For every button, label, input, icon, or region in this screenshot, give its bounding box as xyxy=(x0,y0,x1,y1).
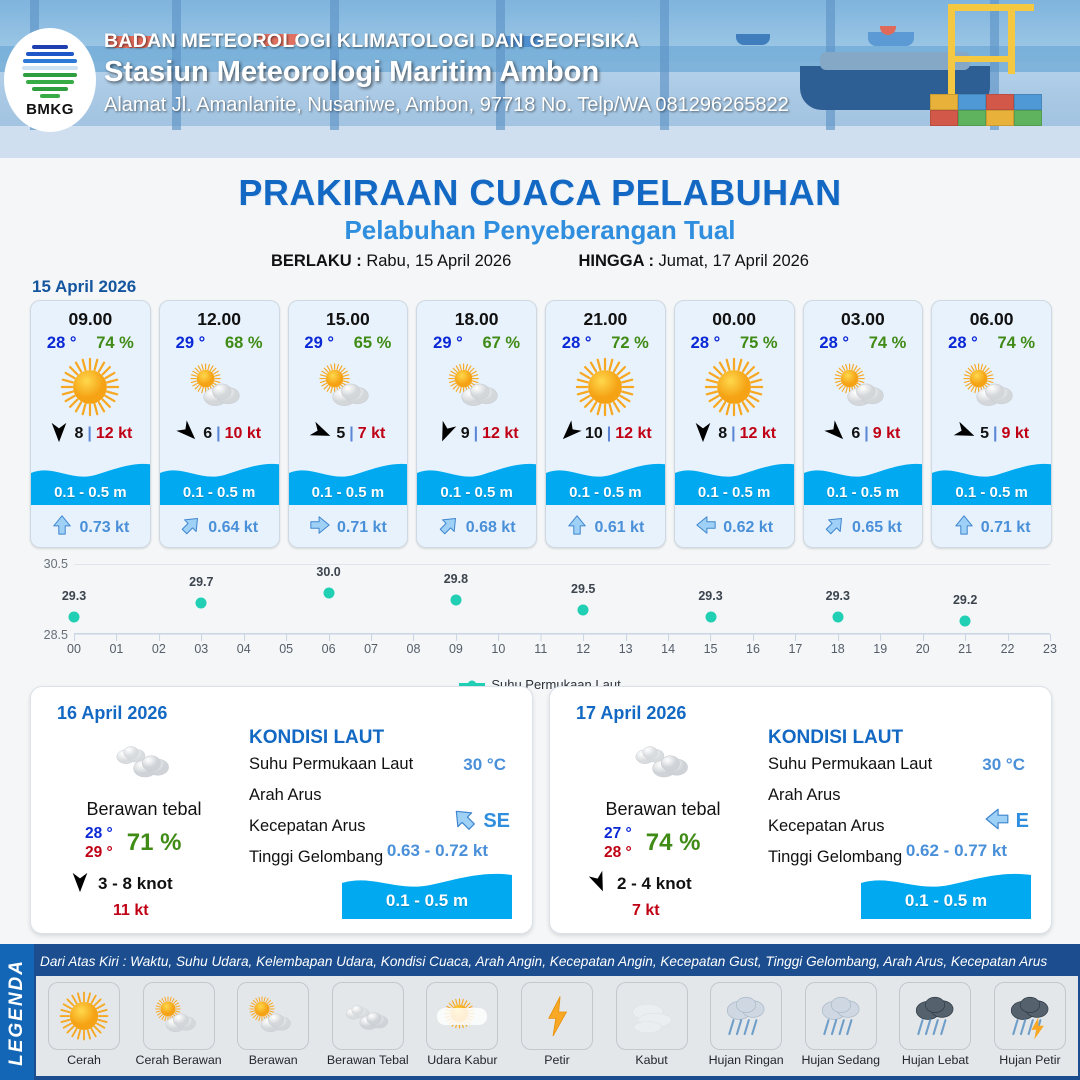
fog-icon xyxy=(616,982,688,1050)
wind-direction-arrow-icon xyxy=(310,421,332,448)
wind-separator: | xyxy=(474,425,478,443)
card-wave-height: 0.1 - 0.5 m xyxy=(31,484,150,501)
station-address: Alamat Jl. Amanlanite, Nusaniwe, Ambon, … xyxy=(104,94,789,117)
cloud-sun-small-icon xyxy=(237,982,309,1050)
panel-current-dir-row: Arah Arus E xyxy=(768,786,1037,817)
card-time: 06.00 xyxy=(932,309,1051,330)
chart-x-tick: 03 xyxy=(194,642,208,656)
card-current: 0.61 kt xyxy=(546,514,665,541)
container xyxy=(930,110,958,126)
panel-current-speed-label: Kecepatan Arus xyxy=(249,817,366,835)
card-wind-degrees: 9 xyxy=(461,425,470,443)
card-wind-degrees: 5 xyxy=(980,425,989,443)
card-current-speed: 0.73 kt xyxy=(79,519,129,537)
sst-chart: 30.528.500010203040506070809101112131415… xyxy=(22,556,1058,676)
bmkg-emblem xyxy=(20,43,80,99)
card-temp-hum: 28 ° 74 % xyxy=(31,334,150,353)
legend-item: Berawan Tebal xyxy=(324,982,412,1067)
chart-x-tick: 15 xyxy=(704,642,718,656)
panel-sst-label: Suhu Permukaan Laut xyxy=(768,755,932,773)
card-temp-hum: 28 ° 72 % xyxy=(546,334,665,353)
valid-from-value: Rabu, 15 April 2026 xyxy=(366,252,511,270)
panel-temp-max: 29 ° xyxy=(85,843,113,862)
page-title: PRAKIRAAN CUACA PELABUHAN xyxy=(0,172,1080,214)
chart-x-tick: 13 xyxy=(619,642,633,656)
card-current-speed: 0.61 kt xyxy=(594,519,644,537)
panel-wind: 2 - 4 knot xyxy=(568,871,758,898)
card-temperature: 28 ° xyxy=(819,334,849,353)
card-wind: 6 | 9 kt xyxy=(804,422,923,446)
panel-sea: KONDISI LAUT Suhu Permukaan Laut 30 °C A… xyxy=(768,727,1037,923)
panel-date: 16 April 2026 xyxy=(57,703,167,724)
page-subtitle: Pelabuhan Penyeberangan Tual xyxy=(0,215,1080,246)
card-humidity: 67 % xyxy=(482,334,520,353)
card-wave: 0.1 - 0.5 m xyxy=(546,457,665,505)
valid-until-label: HINGGA : xyxy=(578,252,653,270)
chart-y-tick: 28.5 xyxy=(44,628,68,642)
chart-point xyxy=(960,615,971,626)
chart-x-tick: 09 xyxy=(449,642,463,656)
container xyxy=(1014,110,1042,126)
current-direction-arrow-icon xyxy=(309,514,331,541)
thunderstorm-icon xyxy=(994,982,1066,1050)
card-current: 0.71 kt xyxy=(289,514,408,541)
card-weather-icon xyxy=(546,354,665,420)
panel-temps: 28 ° 29 ° 71 % xyxy=(49,824,239,863)
container xyxy=(958,94,986,110)
chart-x-tick: 02 xyxy=(152,642,166,656)
card-wave-height: 0.1 - 0.5 m xyxy=(804,484,923,501)
card-current-speed: 0.64 kt xyxy=(208,519,258,537)
legend-item: Kabut xyxy=(608,982,696,1067)
legend-side-tab: LEGENDA xyxy=(0,944,34,1080)
card-temperature: 28 ° xyxy=(47,334,77,353)
container xyxy=(1014,94,1042,110)
chart-x-tick: 12 xyxy=(576,642,590,656)
panel-gust: 11 kt xyxy=(49,902,239,920)
daily-summary-row: 16 April 2026 Berawan tebal 28 ° 29 ° 71… xyxy=(30,686,1052,934)
legend-item: Cerah xyxy=(40,982,128,1067)
bmkg-logo-text: BMKG xyxy=(26,101,74,118)
legend-item: Hujan Sedang xyxy=(797,982,885,1067)
hourly-card: 06.00 28 ° 74 % 5 | 9 kt 0.1 - 0.5 m 0.7… xyxy=(931,300,1052,548)
card-humidity: 65 % xyxy=(354,334,392,353)
chart-x-tick: 05 xyxy=(279,642,293,656)
card-wind: 9 | 12 kt xyxy=(417,422,536,446)
card-humidity: 68 % xyxy=(225,334,263,353)
card-current: 0.65 kt xyxy=(804,514,923,541)
wind-direction-arrow-icon xyxy=(825,421,847,448)
chart-point xyxy=(69,612,80,623)
header-text-block: BADAN METEOROLOGI KLIMATOLOGI DAN GEOFIS… xyxy=(104,30,789,117)
wind-direction-arrow-icon xyxy=(69,871,91,898)
legend-item-label: Petir xyxy=(544,1053,569,1067)
legend-side-label: LEGENDA xyxy=(6,959,28,1066)
card-weather-icon xyxy=(932,354,1051,420)
card-gust: 12 kt xyxy=(740,425,776,443)
chart-point-label: 29.3 xyxy=(826,589,850,603)
wind-separator: | xyxy=(864,425,868,443)
panel-temps: 27 ° 28 ° 74 % xyxy=(568,824,758,863)
panel-temp-max: 28 ° xyxy=(604,843,632,862)
current-direction-arrow-icon xyxy=(438,514,460,541)
card-wind: 10 | 12 kt xyxy=(546,422,665,446)
chart-point xyxy=(323,587,334,598)
card-wave: 0.1 - 0.5 m xyxy=(804,457,923,505)
bmkg-logo: BMKG xyxy=(4,28,96,132)
sst-chart-plot: 30.528.500010203040506070809101112131415… xyxy=(74,564,1050,634)
panel-gust: 7 kt xyxy=(568,902,758,920)
panel-current-speed-row: Kecepatan Arus 0.63 - 0.72 kt xyxy=(249,817,518,848)
card-temperature: 29 ° xyxy=(304,334,334,353)
card-time: 03.00 xyxy=(804,309,923,330)
legend-item-label: Udara Kabur xyxy=(427,1053,497,1067)
wind-separator: | xyxy=(216,425,220,443)
card-gust: 10 kt xyxy=(225,425,261,443)
card-wave: 0.1 - 0.5 m xyxy=(932,457,1051,505)
panel-sst-label: Suhu Permukaan Laut xyxy=(249,755,413,773)
chart-y-tick: 30.5 xyxy=(44,557,68,571)
card-temp-hum: 29 ° 68 % xyxy=(160,334,279,353)
sun-icon xyxy=(48,982,120,1050)
chart-point-label: 29.8 xyxy=(444,572,468,586)
chart-point xyxy=(705,612,716,623)
chart-point-label: 29.7 xyxy=(189,575,213,589)
validity-period: BERLAKU : Rabu, 15 April 2026 HINGGA : J… xyxy=(0,252,1080,271)
card-current-speed: 0.68 kt xyxy=(466,519,516,537)
card-time: 15.00 xyxy=(289,309,408,330)
current-direction-arrow-icon xyxy=(695,514,717,541)
chart-x-tick: 20 xyxy=(916,642,930,656)
current-direction-arrow-icon xyxy=(566,514,588,541)
panel-condition: Berawan tebal xyxy=(568,799,758,820)
card-temp-hum: 29 ° 67 % xyxy=(417,334,536,353)
hourly-card: 12.00 29 ° 68 % 6 | 10 kt 0.1 - 0.5 m 0.… xyxy=(159,300,280,548)
wind-separator: | xyxy=(87,425,91,443)
chart-point-label: 29.2 xyxy=(953,593,977,607)
legend-item-label: Berawan xyxy=(249,1053,298,1067)
hourly-card: 00.00 28 ° 75 % 8 | 12 kt 0.1 - 0.5 m 0.… xyxy=(674,300,795,548)
panel-weather-icon xyxy=(49,731,239,789)
card-time: 12.00 xyxy=(160,309,279,330)
agency-name: BADAN METEOROLOGI KLIMATOLOGI DAN GEOFIS… xyxy=(104,30,789,53)
legend-bar: LEGENDA Dari Atas Kiri : Waktu, Suhu Uda… xyxy=(0,944,1080,1080)
chart-x-tick: 14 xyxy=(661,642,675,656)
panel-current-dir-row: Arah Arus SE xyxy=(249,786,518,817)
chart-x-tick: 01 xyxy=(109,642,123,656)
wind-separator: | xyxy=(607,425,611,443)
panel-wave-box: 0.1 - 0.5 m xyxy=(342,863,512,919)
card-wind: 8 | 12 kt xyxy=(31,422,150,446)
header-banner: BMKG BADAN METEOROLOGI KLIMATOLOGI DAN G… xyxy=(0,0,1080,158)
legend-item-label: Cerah Berawan xyxy=(136,1053,222,1067)
wind-direction-arrow-icon xyxy=(177,421,199,448)
daily-summary-panel: 16 April 2026 Berawan tebal 28 ° 29 ° 71… xyxy=(30,686,533,934)
card-gust: 9 kt xyxy=(1002,425,1030,443)
chart-x-tick: 06 xyxy=(322,642,336,656)
card-current: 0.73 kt xyxy=(31,514,150,541)
chart-point xyxy=(196,598,207,609)
wind-separator: | xyxy=(349,425,353,443)
panel-wind: 3 - 8 knot xyxy=(49,871,239,898)
chart-point-label: 29.5 xyxy=(571,582,595,596)
card-wave: 0.1 - 0.5 m xyxy=(160,457,279,505)
chart-x-tick: 21 xyxy=(958,642,972,656)
card-weather-icon xyxy=(417,354,536,420)
chart-x-tick: 16 xyxy=(746,642,760,656)
card-time: 00.00 xyxy=(675,309,794,330)
legend-note: Dari Atas Kiri : Waktu, Suhu Udara, Kele… xyxy=(40,954,1076,969)
card-wind: 6 | 10 kt xyxy=(160,422,279,446)
chart-x-tick: 04 xyxy=(237,642,251,656)
card-wave: 0.1 - 0.5 m xyxy=(675,457,794,505)
legend-item-label: Kabut xyxy=(635,1053,667,1067)
lightning-icon xyxy=(521,982,593,1050)
hourly-card: 09.00 28 ° 74 % 8 | 12 kt 0.1 - 0.5 m 0.… xyxy=(30,300,151,548)
chart-x-tick: 22 xyxy=(1001,642,1015,656)
card-current: 0.68 kt xyxy=(417,514,536,541)
container xyxy=(986,94,1014,110)
legend-item-label: Hujan Sedang xyxy=(801,1053,880,1067)
chart-x-tick: 17 xyxy=(788,642,802,656)
panel-wave-value: 0.1 - 0.5 m xyxy=(861,891,1031,911)
moderate-rain-icon xyxy=(805,982,877,1050)
card-temperature: 28 ° xyxy=(948,334,978,353)
heavy-rain-icon xyxy=(899,982,971,1050)
card-temperature: 28 ° xyxy=(562,334,592,353)
panel-wave-box: 0.1 - 0.5 m xyxy=(861,863,1031,919)
card-temp-hum: 29 ° 65 % xyxy=(289,334,408,353)
chart-x-tick: 00 xyxy=(67,642,81,656)
card-wave-height: 0.1 - 0.5 m xyxy=(932,484,1051,501)
chart-x-tick: 19 xyxy=(873,642,887,656)
wind-direction-arrow-icon xyxy=(954,421,976,448)
panel-humidity: 74 % xyxy=(646,829,701,857)
card-temperature: 28 ° xyxy=(691,334,721,353)
panel-left: Berawan tebal 28 ° 29 ° 71 % 3 - 8 knot … xyxy=(49,731,239,920)
card-wind: 8 | 12 kt xyxy=(675,422,794,446)
card-temperature: 29 ° xyxy=(433,334,463,353)
panel-current-dir-label: Arah Arus xyxy=(249,786,321,804)
card-wind-degrees: 10 xyxy=(585,425,603,443)
card-gust: 12 kt xyxy=(615,425,651,443)
card-time: 18.00 xyxy=(417,309,536,330)
hourly-forecast-row: 09.00 28 ° 74 % 8 | 12 kt 0.1 - 0.5 m 0.… xyxy=(30,300,1052,548)
card-gust: 7 kt xyxy=(358,425,386,443)
wind-direction-arrow-icon xyxy=(559,421,581,448)
panel-wind-speed: 3 - 8 knot xyxy=(98,874,173,894)
chart-point-label: 29.3 xyxy=(62,589,86,603)
valid-until-value: Jumat, 17 April 2026 xyxy=(659,252,809,270)
card-weather-icon xyxy=(289,354,408,420)
legend-item-label: Berawan Tebal xyxy=(327,1053,409,1067)
haze-icon xyxy=(426,982,498,1050)
card-wave-height: 0.1 - 0.5 m xyxy=(160,484,279,501)
wind-direction-arrow-icon xyxy=(48,421,70,448)
legend-item: Cerah Berawan xyxy=(135,982,223,1067)
panel-current-speed-label: Kecepatan Arus xyxy=(768,817,885,835)
panel-weather-icon xyxy=(568,731,758,789)
panel-left: Berawan tebal 27 ° 28 ° 74 % 2 - 4 knot … xyxy=(568,731,758,920)
panel-sea: KONDISI LAUT Suhu Permukaan Laut 30 °C A… xyxy=(249,727,518,923)
legend-item-label: Hujan Petir xyxy=(999,1053,1060,1067)
chart-point-label: 29.3 xyxy=(698,589,722,603)
light-rain-icon xyxy=(710,982,782,1050)
card-current-speed: 0.62 kt xyxy=(723,519,773,537)
wind-direction-arrow-icon xyxy=(588,871,610,898)
clouds-icon xyxy=(332,982,404,1050)
container xyxy=(986,110,1014,126)
card-humidity: 74 % xyxy=(96,334,134,353)
legend-item: Hujan Petir xyxy=(986,982,1074,1067)
chart-x-tick: 07 xyxy=(364,642,378,656)
panel-humidity: 71 % xyxy=(127,829,182,857)
valid-from-label: BERLAKU : xyxy=(271,252,362,270)
legend-item: Berawan xyxy=(229,982,317,1067)
chart-point xyxy=(832,612,843,623)
card-wave: 0.1 - 0.5 m xyxy=(417,457,536,505)
panel-current-dir-label: Arah Arus xyxy=(768,786,840,804)
card-weather-icon xyxy=(804,354,923,420)
card-current-speed: 0.71 kt xyxy=(337,519,387,537)
legend-item: Petir xyxy=(513,982,601,1067)
chart-x-tick: 23 xyxy=(1043,642,1057,656)
panel-temp-min: 28 ° xyxy=(85,824,113,843)
panel-sst-value: 30 °C xyxy=(463,755,506,775)
daily-summary-panel: 17 April 2026 Berawan tebal 27 ° 28 ° 74… xyxy=(549,686,1052,934)
card-current-speed: 0.65 kt xyxy=(852,519,902,537)
card-wave: 0.1 - 0.5 m xyxy=(31,457,150,505)
panel-current-speed-row: Kecepatan Arus 0.62 - 0.77 kt xyxy=(768,817,1037,848)
card-wind-degrees: 6 xyxy=(851,425,860,443)
panel-condition: Berawan tebal xyxy=(49,799,239,820)
legend-item-label: Cerah xyxy=(67,1053,101,1067)
card-wind-degrees: 8 xyxy=(718,425,727,443)
card-wind-degrees: 8 xyxy=(74,425,83,443)
card-temperature: 29 ° xyxy=(176,334,206,353)
card-humidity: 74 % xyxy=(997,334,1035,353)
current-direction-arrow-icon xyxy=(51,514,73,541)
chart-x-tick: 11 xyxy=(534,642,547,656)
station-name: Stasiun Meteorologi Maritim Ambon xyxy=(104,56,789,89)
sun-cloud-icon xyxy=(143,982,215,1050)
card-weather-icon xyxy=(31,354,150,420)
container xyxy=(958,110,986,126)
card-wave-height: 0.1 - 0.5 m xyxy=(289,484,408,501)
chart-point xyxy=(450,594,461,605)
legend-item-label: Hujan Lebat xyxy=(902,1053,969,1067)
hourly-card: 03.00 28 ° 74 % 6 | 9 kt 0.1 - 0.5 m 0.6… xyxy=(803,300,924,548)
card-temp-hum: 28 ° 74 % xyxy=(804,334,923,353)
card-wave-height: 0.1 - 0.5 m xyxy=(546,484,665,501)
card-humidity: 74 % xyxy=(869,334,907,353)
card-wave-height: 0.1 - 0.5 m xyxy=(417,484,536,501)
chart-gridline: 28.5 xyxy=(74,634,1050,635)
current-direction-arrow-icon xyxy=(953,514,975,541)
card-weather-icon xyxy=(675,354,794,420)
current-direction-arrow-icon xyxy=(180,514,202,541)
card-current-speed: 0.71 kt xyxy=(981,519,1031,537)
wind-separator: | xyxy=(731,425,735,443)
card-gust: 9 kt xyxy=(873,425,901,443)
card-current: 0.71 kt xyxy=(932,514,1051,541)
hourly-date-label: 15 April 2026 xyxy=(32,277,136,297)
card-temp-hum: 28 ° 74 % xyxy=(932,334,1051,353)
wind-direction-arrow-icon xyxy=(435,421,457,448)
chart-gridline: 30.5 xyxy=(74,564,1050,565)
current-direction-arrow-icon xyxy=(824,514,846,541)
card-humidity: 72 % xyxy=(611,334,649,353)
legend-item: Udara Kabur xyxy=(418,982,506,1067)
card-wind: 5 | 7 kt xyxy=(289,422,408,446)
legend-items: Cerah Cerah Berawan Berawan Berawan Teba… xyxy=(36,976,1078,1076)
card-weather-icon xyxy=(160,354,279,420)
chart-x-axis: 0001020304050607080910111213141516171819… xyxy=(74,633,1050,634)
panel-date: 17 April 2026 xyxy=(576,703,686,724)
chart-point xyxy=(578,605,589,616)
panel-wind-speed: 2 - 4 knot xyxy=(617,874,692,894)
legend-item: Hujan Ringan xyxy=(702,982,790,1067)
chart-x-tick: 08 xyxy=(407,642,421,656)
chart-x-tick: 10 xyxy=(491,642,505,656)
panel-sea-title: KONDISI LAUT xyxy=(768,727,1037,749)
panel-temp-min: 27 ° xyxy=(604,824,632,843)
card-wind: 5 | 9 kt xyxy=(932,422,1051,446)
card-gust: 12 kt xyxy=(482,425,518,443)
hourly-card: 18.00 29 ° 67 % 9 | 12 kt 0.1 - 0.5 m 0.… xyxy=(416,300,537,548)
card-time: 09.00 xyxy=(31,309,150,330)
panel-sst-row: Suhu Permukaan Laut 30 °C xyxy=(249,755,518,786)
card-wave: 0.1 - 0.5 m xyxy=(289,457,408,505)
card-time: 21.00 xyxy=(546,309,665,330)
panel-sst-value: 30 °C xyxy=(982,755,1025,775)
card-gust: 12 kt xyxy=(96,425,132,443)
wind-separator: | xyxy=(993,425,997,443)
legend-item-label: Hujan Ringan xyxy=(709,1053,784,1067)
card-humidity: 75 % xyxy=(740,334,778,353)
card-temp-hum: 28 ° 75 % xyxy=(675,334,794,353)
legend-item: Hujan Lebat xyxy=(891,982,979,1067)
panel-sea-title: KONDISI LAUT xyxy=(249,727,518,749)
hourly-card: 21.00 28 ° 72 % 10 | 12 kt 0.1 - 0.5 m 0… xyxy=(545,300,666,548)
container xyxy=(930,94,958,110)
wind-direction-arrow-icon xyxy=(692,421,714,448)
chart-point-label: 30.0 xyxy=(316,565,340,579)
chart-x-tick: 18 xyxy=(831,642,845,656)
hourly-card: 15.00 29 ° 65 % 5 | 7 kt 0.1 - 0.5 m 0.7… xyxy=(288,300,409,548)
card-wind-degrees: 6 xyxy=(203,425,212,443)
panel-wave-value: 0.1 - 0.5 m xyxy=(342,891,512,911)
panel-sst-row: Suhu Permukaan Laut 30 °C xyxy=(768,755,1037,786)
card-wave-height: 0.1 - 0.5 m xyxy=(675,484,794,501)
card-current: 0.64 kt xyxy=(160,514,279,541)
card-current: 0.62 kt xyxy=(675,514,794,541)
card-wind-degrees: 5 xyxy=(336,425,345,443)
banner-floor xyxy=(0,126,1080,158)
